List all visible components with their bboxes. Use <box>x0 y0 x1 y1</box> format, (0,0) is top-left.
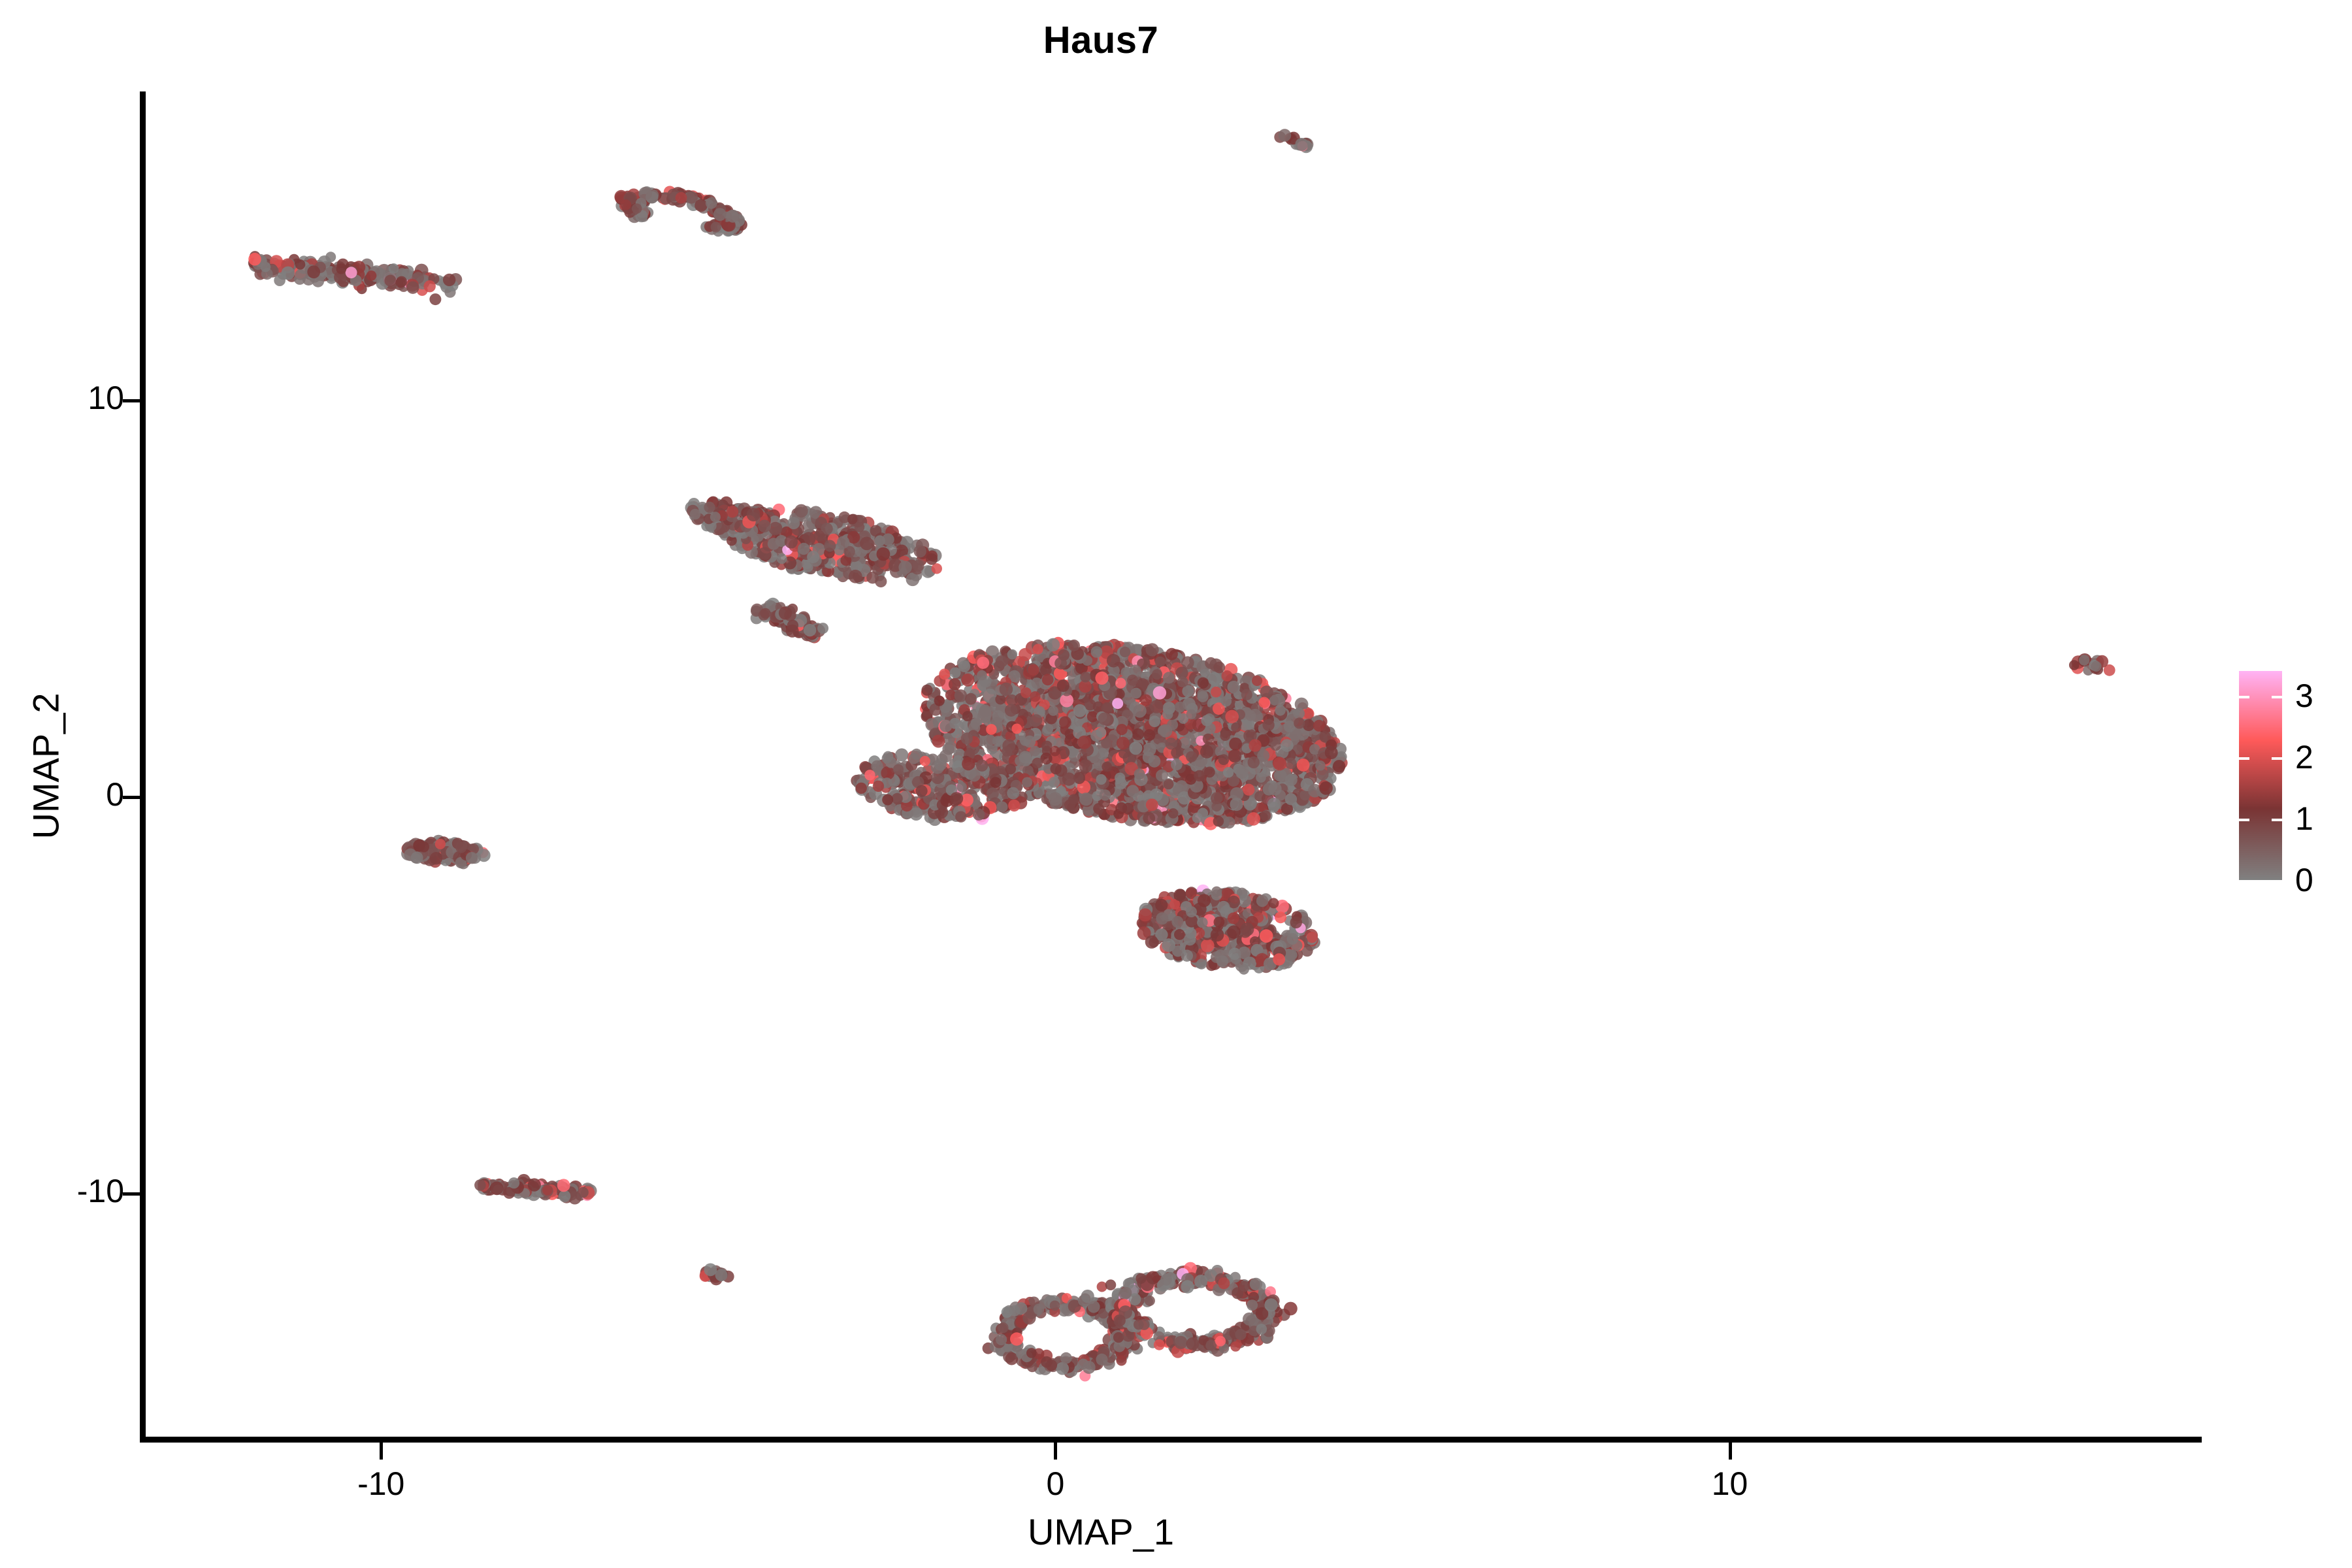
scatter-point <box>1273 757 1286 771</box>
scatter-point <box>1284 949 1296 961</box>
scatter-point <box>1102 762 1112 772</box>
scatter-point <box>847 514 858 525</box>
scatter-point <box>1186 906 1197 917</box>
scatter-point <box>406 282 419 294</box>
scatter-point <box>1105 734 1119 748</box>
scatter-point <box>1225 710 1239 724</box>
scatter-point <box>758 520 771 533</box>
scatter-point <box>1213 816 1224 827</box>
scatter-point <box>1227 925 1241 939</box>
scatter-point <box>1217 955 1228 967</box>
scatter-point <box>621 199 631 210</box>
scatter-point <box>1117 724 1128 735</box>
scatter-point <box>713 208 727 221</box>
scatter-point <box>866 572 879 584</box>
scatter-point <box>1317 769 1329 781</box>
scatter-point <box>1153 686 1166 699</box>
scatter-point <box>1005 764 1017 775</box>
scatter-point <box>986 724 997 735</box>
scatter-point <box>1211 687 1222 698</box>
scatter-point <box>824 540 836 551</box>
scatter-point <box>559 1190 570 1202</box>
scatter-point <box>1213 662 1225 674</box>
scatter-point <box>939 668 950 679</box>
scatter-point <box>1239 964 1249 975</box>
scatter-point <box>542 1185 553 1196</box>
scatter-point <box>1132 728 1144 740</box>
scatter-point <box>706 197 717 209</box>
scatter-point <box>932 735 945 748</box>
scatter-point <box>926 553 938 565</box>
scatter-point <box>528 1178 541 1191</box>
scatter-point <box>1115 678 1126 689</box>
scatter-point <box>769 522 783 536</box>
scatter-point <box>395 278 406 288</box>
scatter-point <box>1143 729 1155 741</box>
scatter-point <box>1030 714 1043 727</box>
scatter-point <box>882 533 894 546</box>
scatter-point <box>1149 715 1160 727</box>
scatter-point <box>1204 766 1215 777</box>
scatter-point <box>503 1187 515 1199</box>
scatter-point <box>1325 746 1338 759</box>
scatter-point <box>1030 691 1040 702</box>
scatter-point <box>429 293 441 305</box>
scatter-point <box>962 757 975 770</box>
scatter-point <box>1297 759 1310 772</box>
scatter-point <box>1168 808 1179 819</box>
scatter-point <box>1222 670 1233 681</box>
scatter-point <box>1155 899 1168 911</box>
scatter-point <box>1211 928 1224 942</box>
scatter-point <box>443 274 455 286</box>
scatter-point <box>704 1264 717 1277</box>
scatter-point <box>711 222 721 233</box>
scatter-point <box>430 852 442 864</box>
scatter-point <box>1268 782 1281 795</box>
scatter-point <box>1171 916 1183 928</box>
scatter-point <box>976 760 988 772</box>
scatter-point <box>424 280 436 292</box>
scatter-point <box>965 693 977 705</box>
scatter-point <box>1049 792 1062 806</box>
scatter-point <box>1223 767 1233 777</box>
scatter-point <box>882 753 892 764</box>
scatter-point <box>1107 654 1120 668</box>
scatter-point <box>877 547 890 561</box>
scatter-point <box>694 199 708 212</box>
scatter-point <box>985 735 996 746</box>
scatter-point <box>1243 784 1254 796</box>
scatter-point <box>777 553 787 564</box>
scatter-point <box>1078 736 1092 749</box>
scatter-point <box>1146 643 1159 656</box>
scatter-point <box>912 560 924 572</box>
scatter-point <box>1198 894 1211 907</box>
scatter-point <box>1258 697 1269 708</box>
scatter-point <box>909 753 920 764</box>
scatter-point <box>1203 734 1214 745</box>
scatter-point <box>632 203 642 214</box>
scatter-point <box>1260 685 1273 698</box>
scatter-point <box>1093 803 1104 814</box>
scatter-point <box>1166 648 1178 661</box>
scatter-point <box>1177 676 1188 687</box>
scatter-point <box>920 756 930 766</box>
scatter-point <box>1051 763 1062 774</box>
scatter-point <box>1186 710 1197 720</box>
scatter-point <box>1186 751 1197 762</box>
scatter-point <box>760 608 771 619</box>
scatter-point <box>892 793 903 804</box>
scatter-point <box>1062 772 1075 785</box>
scatter-point <box>1270 740 1281 751</box>
scatter-point <box>1211 887 1222 897</box>
scatter-point <box>1307 932 1318 943</box>
scatter-point <box>1162 709 1173 719</box>
scatter-point <box>1139 908 1152 921</box>
scatter-point <box>873 781 884 792</box>
scatter-point <box>1197 691 1208 702</box>
scatter-point <box>1231 723 1241 733</box>
scatter-point <box>455 841 466 853</box>
scatter-point <box>1047 638 1060 651</box>
scatter-point <box>1146 798 1158 811</box>
scatter-point <box>1122 803 1134 815</box>
scatter-point <box>727 506 738 517</box>
scatter-point <box>710 512 721 522</box>
scatter-point <box>1279 129 1292 142</box>
scatter-point <box>977 670 987 681</box>
scatter-point <box>1091 646 1103 658</box>
scatter-point <box>307 265 320 278</box>
scatter-point <box>1248 757 1260 768</box>
scatter-point <box>1054 657 1067 670</box>
scatter-point <box>939 720 952 732</box>
scatter-point <box>1079 792 1092 806</box>
scatter-point <box>1262 719 1274 731</box>
scatter-point <box>996 655 1008 668</box>
scatter-point <box>1228 749 1241 762</box>
scatter-point <box>1033 644 1043 655</box>
scatter-point <box>676 192 687 204</box>
scatter-point <box>1082 655 1092 666</box>
scatter-point <box>1171 747 1182 759</box>
scatter-point <box>1201 939 1215 953</box>
scatter-point <box>1295 138 1308 151</box>
scatter-point <box>1032 758 1043 769</box>
scatter-point <box>962 711 973 721</box>
scatter-point <box>1229 738 1242 751</box>
scatter-point <box>466 852 478 864</box>
scatter-point <box>1079 759 1092 773</box>
scatter-point <box>949 678 961 691</box>
scatter-point <box>1201 715 1213 726</box>
scatter-point <box>1285 774 1298 786</box>
scatter-point <box>1068 640 1080 651</box>
scatter-point <box>1200 745 1213 759</box>
scatter-point <box>295 269 306 280</box>
scatter-point <box>1133 704 1147 718</box>
scatter-point <box>1214 917 1225 928</box>
scatter-point <box>1230 798 1243 811</box>
scatter-point <box>1156 770 1168 782</box>
scatter-point <box>898 561 911 574</box>
scatter-point <box>914 545 926 557</box>
scatter-point <box>490 1181 504 1195</box>
scatter-point <box>1096 774 1107 785</box>
scatter-point <box>1315 760 1326 771</box>
scatter-point <box>1143 812 1155 825</box>
scatter-point <box>1057 679 1070 692</box>
scatter-point <box>1028 664 1039 676</box>
scatter-point <box>1294 717 1305 728</box>
scatter-point <box>1198 808 1209 819</box>
scatter-point <box>837 536 849 548</box>
scatter-point <box>1333 760 1345 772</box>
scatter-point <box>1002 746 1012 757</box>
scatter-point <box>1184 934 1196 946</box>
scatter-point <box>704 502 715 513</box>
scatter-point <box>1220 730 1230 741</box>
scatter-point <box>1150 700 1164 713</box>
scatter-point <box>295 259 306 270</box>
scatter-point <box>1024 736 1036 748</box>
scatter-point <box>248 253 261 266</box>
scatter-point <box>1156 912 1168 924</box>
scatter-point <box>950 792 963 805</box>
scatter-point <box>807 551 819 563</box>
scatter-point <box>916 785 928 797</box>
scatter-point <box>1241 923 1254 936</box>
scatter-point <box>346 267 357 278</box>
scatter-point <box>817 623 828 634</box>
scatter-point <box>690 509 701 520</box>
scatter-point <box>798 543 809 555</box>
scatter-point <box>794 504 808 518</box>
scatter-point <box>747 508 760 521</box>
scatter-point <box>1174 889 1186 901</box>
scatter-point <box>1194 770 1205 781</box>
scatter-point <box>1172 945 1184 957</box>
scatter-point <box>1175 702 1186 713</box>
scatter-point <box>1290 917 1302 928</box>
scatter-point <box>785 535 798 548</box>
scatter-point <box>1249 739 1261 751</box>
scatter-point <box>1068 794 1079 804</box>
scatter-point <box>1031 678 1042 689</box>
scatter-point <box>864 770 875 780</box>
scatter-point <box>1019 751 1032 764</box>
scatter-point <box>860 537 874 551</box>
scatter-point <box>1007 787 1019 800</box>
scatter-point <box>508 1177 519 1188</box>
scatter-point <box>1221 696 1232 706</box>
scatter-point <box>1198 678 1209 689</box>
scatter-point <box>1238 947 1251 960</box>
scatter-point <box>1048 706 1058 716</box>
scatter-point <box>768 538 780 550</box>
scatter-point <box>1197 917 1208 928</box>
scatter-point <box>895 748 908 761</box>
scatter-point <box>474 1179 486 1191</box>
scatter-point <box>638 187 652 201</box>
scatter-point <box>1127 675 1138 686</box>
scatter-points-layer <box>145 91 2202 1439</box>
scatter-point <box>961 674 974 687</box>
scatter-point <box>787 517 800 529</box>
scatter-point <box>1256 895 1268 907</box>
scatter-point <box>1155 657 1166 667</box>
scatter-point <box>855 522 865 532</box>
scatter-point <box>955 811 966 823</box>
scatter-point <box>1140 694 1152 706</box>
scatter-point <box>1275 911 1286 923</box>
scatter-point <box>1273 953 1285 966</box>
scatter-point <box>1042 674 1054 685</box>
scatter-point <box>1022 777 1032 787</box>
scatter-point <box>1126 785 1139 797</box>
scatter-point <box>1208 672 1222 686</box>
scatter-point <box>557 1179 570 1192</box>
scatter-point <box>787 620 798 631</box>
scatter-point <box>411 851 423 864</box>
scatter-point <box>973 809 985 821</box>
scatter-point <box>1030 746 1040 757</box>
scatter-point <box>1235 766 1249 779</box>
scatter-point <box>882 794 893 806</box>
scatter-point <box>1171 759 1183 770</box>
scatter-point <box>1011 724 1022 734</box>
scatter-point <box>1223 817 1235 829</box>
scatter-point <box>1174 929 1185 940</box>
scatter-point <box>1313 720 1325 732</box>
scatter-point <box>1129 742 1142 755</box>
scatter-point <box>1196 959 1207 970</box>
scatter-point <box>1059 716 1071 728</box>
scatter-point <box>1260 810 1271 821</box>
scatter-point <box>1284 721 1296 732</box>
scatter-point <box>979 704 992 717</box>
scatter-point <box>1274 769 1286 781</box>
scatter-point <box>1159 724 1172 737</box>
scatter-point <box>1163 672 1175 683</box>
scatter-point <box>1007 649 1018 660</box>
scatter-point <box>906 573 920 587</box>
scatter-point <box>1211 792 1222 804</box>
scatter-point <box>1285 758 1297 770</box>
scatter-point <box>1120 647 1130 657</box>
scatter-point <box>849 570 862 583</box>
scatter-point <box>1134 768 1145 779</box>
scatter-point <box>1095 672 1108 685</box>
scatter-point <box>1260 929 1273 943</box>
scatter-point <box>758 547 771 561</box>
scatter-point <box>1269 898 1279 908</box>
scatter-point <box>958 661 970 672</box>
scatter-point <box>1247 812 1260 826</box>
scatter-point <box>1275 705 1286 716</box>
scatter-point <box>871 760 883 772</box>
scatter-point <box>1080 672 1090 682</box>
scatter-point <box>1005 704 1017 717</box>
scatter-point <box>977 657 989 669</box>
scatter-point <box>1096 727 1106 738</box>
scatter-point <box>336 264 347 274</box>
scatter-point <box>1303 709 1314 719</box>
scatter-point <box>1073 704 1086 717</box>
scatter-point <box>1130 664 1141 676</box>
scatter-point <box>1000 683 1013 696</box>
scatter-point <box>814 531 825 542</box>
scatter-point <box>1228 681 1241 694</box>
scatter-point <box>893 764 904 775</box>
scatter-point <box>956 782 967 792</box>
scatter-point <box>715 1269 728 1281</box>
scatter-point <box>1112 698 1123 709</box>
scatter-point <box>578 1187 589 1198</box>
scatter-point <box>961 732 973 744</box>
scatter-point <box>1252 676 1262 686</box>
scatter-point <box>856 783 867 794</box>
scatter-point <box>804 624 816 636</box>
scatter-point <box>996 802 1007 813</box>
scatter-point <box>282 267 295 280</box>
scatter-point <box>1130 688 1141 699</box>
scatter-point <box>1241 689 1252 700</box>
scatter-point <box>1293 708 1305 719</box>
scatter-point <box>1267 798 1281 811</box>
plot-panel <box>145 91 2202 1439</box>
scatter-point <box>1218 754 1230 765</box>
umap-feature-plot: Haus7 -10010100-10 UMAP_1 UMAP_2 3210 <box>0 0 2352 1568</box>
scatter-point <box>1049 777 1060 788</box>
scatter-point <box>1217 901 1230 914</box>
scatter-point <box>921 685 932 696</box>
scatter-point <box>367 270 377 281</box>
scatter-point <box>779 606 792 619</box>
scatter-point <box>990 777 1002 788</box>
scatter-point <box>435 839 446 849</box>
scatter-point <box>934 696 945 706</box>
scatter-point <box>1117 737 1130 750</box>
scatter-point <box>1008 800 1020 811</box>
scatter-point <box>1319 781 1333 795</box>
scatter-point <box>1100 789 1111 800</box>
scatter-point <box>1115 773 1125 783</box>
scatter-point <box>934 759 947 771</box>
scatter-point <box>1285 793 1297 805</box>
scatter-point <box>1287 933 1299 945</box>
scatter-point <box>1148 755 1160 768</box>
scatter-point <box>1281 739 1294 752</box>
scatter-point <box>418 841 429 853</box>
scatter-point <box>1228 913 1239 924</box>
page-title: Haus7 <box>0 18 2202 62</box>
scatter-point <box>1098 713 1111 725</box>
scatter-point <box>1152 669 1162 679</box>
scatter-point <box>389 263 399 274</box>
scatter-point <box>1145 936 1158 949</box>
scatter-point <box>998 1322 1008 1333</box>
scatter-point <box>384 275 396 287</box>
scatter-point <box>1050 746 1060 757</box>
scatter-point <box>1245 710 1256 721</box>
